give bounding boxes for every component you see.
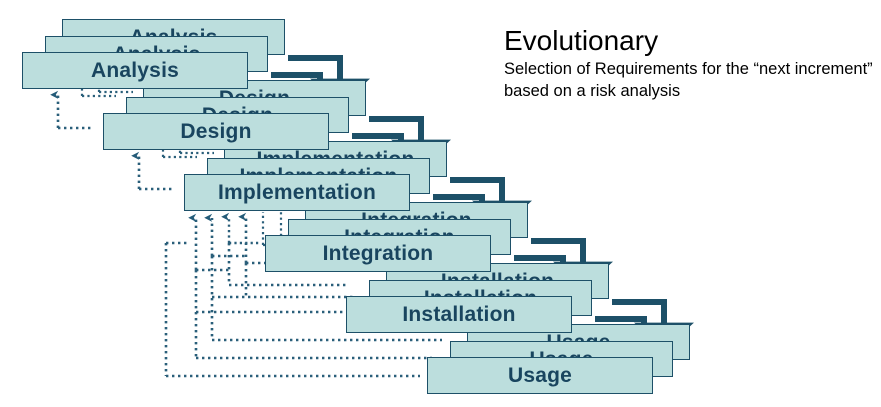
phase-box-integration-front[interactable]: Integration [265, 235, 491, 272]
evolutionary-waterfall-diagram: Analysis Design Implementation Integrati… [0, 0, 881, 407]
caption-title: Evolutionary [504, 26, 876, 55]
feedback-design-to-analysis [58, 95, 92, 128]
phase-label: Analysis [91, 60, 179, 81]
phase-label: Installation [402, 304, 515, 325]
phase-label: Usage [508, 365, 572, 386]
phase-box-implementation-front[interactable]: Implementation [184, 174, 410, 211]
phase-label: Implementation [218, 182, 376, 203]
caption-block: Evolutionary Selection of Requirements f… [504, 26, 876, 102]
phase-box-installation-front[interactable]: Installation [346, 296, 572, 333]
phase-box-usage-front[interactable]: Usage [427, 357, 653, 394]
feedback-implementation-to-design [139, 156, 173, 189]
phase-label: Design [180, 121, 251, 142]
phase-box-design-front[interactable]: Design [103, 113, 329, 150]
phase-box-analysis-front[interactable]: Analysis [22, 52, 248, 89]
phase-label: Integration [323, 243, 434, 264]
caption-subtitle: Selection of Requirements for the “next … [504, 59, 876, 101]
